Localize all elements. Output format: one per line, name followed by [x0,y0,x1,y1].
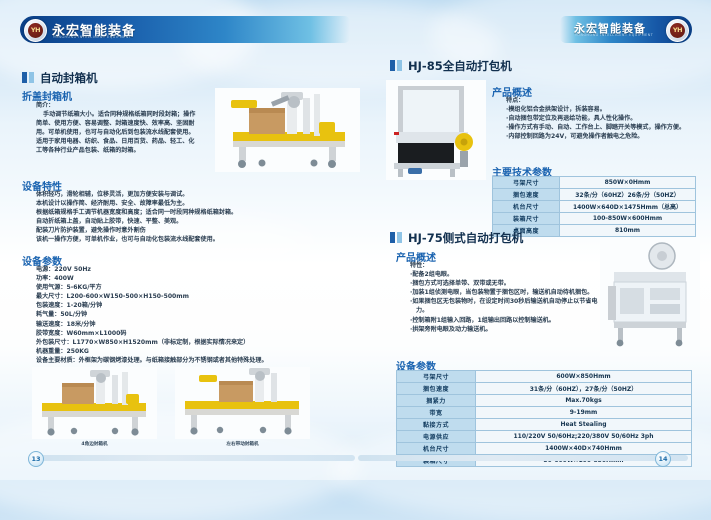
section-title-hj75: HJ-75侧式自动打包机 [390,230,523,246]
table-cell-value: 110/220V 50/60Hz;220/380V 50/60Hz 3ph [476,431,692,443]
feature-label: 特点： [492,96,704,105]
overview-features-hj85: 特点： ·模组化铝合金拱架设计，拆装容易。 ·自动捆包带定位及再退给功能，具人性… [492,96,704,141]
param-item: 包装速度：1-20箱/分钟 [22,301,362,310]
footer-bar-right [358,455,688,461]
table-cell-value: 1400W×640D×1475Hmm（总高） [560,201,696,213]
hj85-strapping-machine-illustration [386,80,486,180]
table-cell-value: Heat Stealing [476,419,692,431]
product-photo-corner-sealer [32,367,157,439]
section-title-hj85: HJ-85全自动打包机 [390,58,512,74]
table-row: 弓架尺寸850W×0Hmm [493,177,696,189]
spec-table-hj75: 弓架尺寸600W×850Hmm 捆包速度31条/分（60HZ），27条/分（50… [396,370,692,467]
feature-item: ·操作方式有手动、自动、工作台上、脚踏开关等模式，操作方便。 [492,123,704,132]
header-bar-left: YH 永宏智能装备 YONGHONG INTELLIGENT EQUIPMENT [20,16,350,43]
table-row: 电源供应110/220V 50/60Hz;220/380V 50/60Hz 3p… [397,431,692,443]
footer-bar-left [30,455,355,461]
company-logo: YH [666,19,689,42]
section-title-label: 自动封箱机 [40,71,98,85]
feature-item: 本机设计以操作简、经济耐用、安全、故障率最低为主。 [22,199,352,208]
table-cell-key: 电源供应 [397,431,476,443]
table-cell-value: Max.70kgs [476,395,692,407]
photo-caption: 4角边封箱机 [32,441,157,447]
table-cell-key: 捆紧力 [397,395,476,407]
table-cell-value: 850W×0Hmm [560,177,696,189]
table-cell-key: 弓架尺寸 [493,177,560,189]
param-item: 胶带宽度：W60mm×L1000码 [22,329,362,338]
table-cell-key: 机台尺寸 [493,201,560,213]
param-item: 使用气源：5-6KG/平方 [22,283,362,292]
table-row: 黏接方式Heat Stealing [397,419,692,431]
param-item: 设备主要材质：外框架为碳钢烤漆处理。与纸箱接触部分为不锈钢或者其他特殊处理。 [22,356,362,365]
table-cell-key: 带宽 [397,407,476,419]
table-row: 捆紧力Max.70kgs [397,395,692,407]
table-row: 捆包速度31条/分（60HZ），27条/分（50HZ） [397,383,692,395]
table-cell-key: 捆包速度 [493,189,560,201]
feature-item: 该机一操作方便，可单机作业，也可与自动化包装流水线配套使用。 [22,235,352,244]
table-row: 带宽9-19mm [397,407,692,419]
table-row: 弓架尺寸600W×850Hmm [397,371,692,383]
logo-monogram: YH [670,23,685,38]
table-row: 装箱尺寸100-850W×600Hmm [493,213,696,225]
intro-label: 简介： [22,101,200,110]
product-photo-hj75 [600,242,700,352]
company-logo: YH [24,19,47,42]
feature-item: 根据纸箱规格手工调节机器宽度和高度；适合同一时段同种规格纸箱封箱。 [22,208,352,217]
hj75-side-strapping-machine-illustration [600,242,700,352]
brand-name-en: YONGHONG INTELLIGENT EQUIPMENT [53,35,131,39]
table-cell-value: 810mm [560,225,696,237]
param-item: 功率：400W [22,274,362,283]
square-marker-icon [397,232,402,243]
cloud-decoration [180,0,500,90]
product-photo-side-drive-sealer [175,367,310,439]
param-item: 输送速度：18米/分钟 [22,320,362,329]
feature-item: ·模组化铝合金拱架设计，拆装容易。 [492,105,704,114]
logo-monogram: YH [28,23,43,38]
feature-item: ·自动捆包带定位及再退给功能，具人性化操作。 [492,114,704,123]
overview-features-hj75: 特性： ·配备2组电眼。 ·捆包方式可选择单带、双带或无带。 ·加装1组侦测电眼… [396,261,604,334]
table-cell-value: 31条/分（60HZ），27条/分（50HZ） [476,383,692,395]
section-title-label: HJ-85全自动打包机 [408,59,512,73]
table-cell-value: 100-850W×600Hmm [560,213,696,225]
table-cell-key: 装箱尺寸 [493,213,560,225]
square-marker-icon [22,72,27,83]
side-drive-sealer-illustration [175,367,310,439]
table-cell-key: 黏接方式 [397,419,476,431]
table-cell-key: 捆包速度 [397,383,476,395]
param-item: 最大尺寸：L200-600×W150-500×H150-500mm [22,292,362,301]
intro-block: 简介： 手动调节纸箱大小。适合同种规格纸箱同时段封箱；操作简单、使用方便、容易调… [22,101,200,156]
square-marker-icon [397,60,402,71]
square-marker-icon [390,232,395,243]
feature-item: 自动折纸箱上盖，自动贴上胶带，快速、平整、美观。 [22,217,352,226]
feature-item: ·拱架旁附电眼及动力输送机。 [396,325,604,334]
param-item: 耗气量：50L/分钟 [22,310,362,319]
table-cell-value: 9-19mm [476,407,692,419]
param-item: 电源：220V 50Hz [22,265,362,274]
flap-sealer-illustration [215,88,360,172]
square-marker-icon [390,60,395,71]
feature-item: 体积轻巧，滑轮相辅，位移灵活，更加方便安装与调试。 [22,190,352,199]
table-cell-key: 弓架尺寸 [397,371,476,383]
product-photo-hj85 [386,80,486,180]
feature-item: ·捆包方式可选择单带、双带或无带。 [396,279,604,288]
section-title-sealer: 自动封箱机 [22,70,98,86]
brand-name-en: YONGHONG INTELLIGENT EQUIPMENT [575,33,653,37]
features-list: 体积轻巧，滑轮相辅，位移灵活，更加方便安装与调试。 本机设计以操作简、经济耐用、… [22,190,352,245]
feature-item: 配装刀片防护装置，避免操作时意外割伤 [22,226,352,235]
product-photo-flap-sealer [215,88,360,172]
page-number-left: 13 [28,451,44,467]
feature-item: ·加装1组侦测电眼，当包装物置于捆包区时，输送机自动待机捆包。 [396,288,604,297]
header-bar-right: YH 永宏智能装备 YONGHONG INTELLIGENT EQUIPMENT [560,16,692,43]
table-cell-value: 32条/分（60HZ）26条/分（50HZ） [560,189,696,201]
spec-table-hj85: 弓架尺寸850W×0Hmm 捆包速度32条/分（60HZ）26条/分（50HZ）… [492,176,696,237]
intro-body: 手动调节纸箱大小。适合同种规格纸箱同时段封箱；操作简单、使用方便、容易调整、封箱… [22,110,200,155]
feature-item: ·内部控制回路为24V，可避免操作者触电之危险。 [492,132,704,141]
photo-caption: 左右带动封箱机 [175,441,310,447]
table-row: 捆包速度32条/分（60HZ）26条/分（50HZ） [493,189,696,201]
feature-item: ·控制箱附1组输入回路，1组输出回路以控制输送机。 [396,316,604,325]
section-title-label: HJ-75侧式自动打包机 [408,231,523,245]
param-item: 外包装尺寸：L1770×W850×H1520mm（非标定制，根据实际情况来定） [22,338,362,347]
feature-label: 特性： [396,261,604,270]
param-item: 机器重量：250KG [22,347,362,356]
cloud-decoration [430,0,711,90]
square-marker-icon [29,72,34,83]
table-row: 机台尺寸1400W×640D×1475Hmm（总高） [493,201,696,213]
table-cell-value: 600W×850Hmm [476,371,692,383]
feature-item: ·如果捆包区无包装物时，在设定时间30秒后输送机自动停止以节省电力。 [396,297,604,315]
table-cell-key: 机台尺寸 [397,443,476,455]
params-list: 电源：220V 50Hz 功率：400W 使用气源：5-6KG/平方 最大尺寸：… [22,265,362,365]
corner-sealer-illustration [32,367,157,439]
page-number-right: 14 [655,451,671,467]
feature-item: ·配备2组电眼。 [396,270,604,279]
table-row: 机台尺寸1400W×40D×740Hmm [397,443,692,455]
